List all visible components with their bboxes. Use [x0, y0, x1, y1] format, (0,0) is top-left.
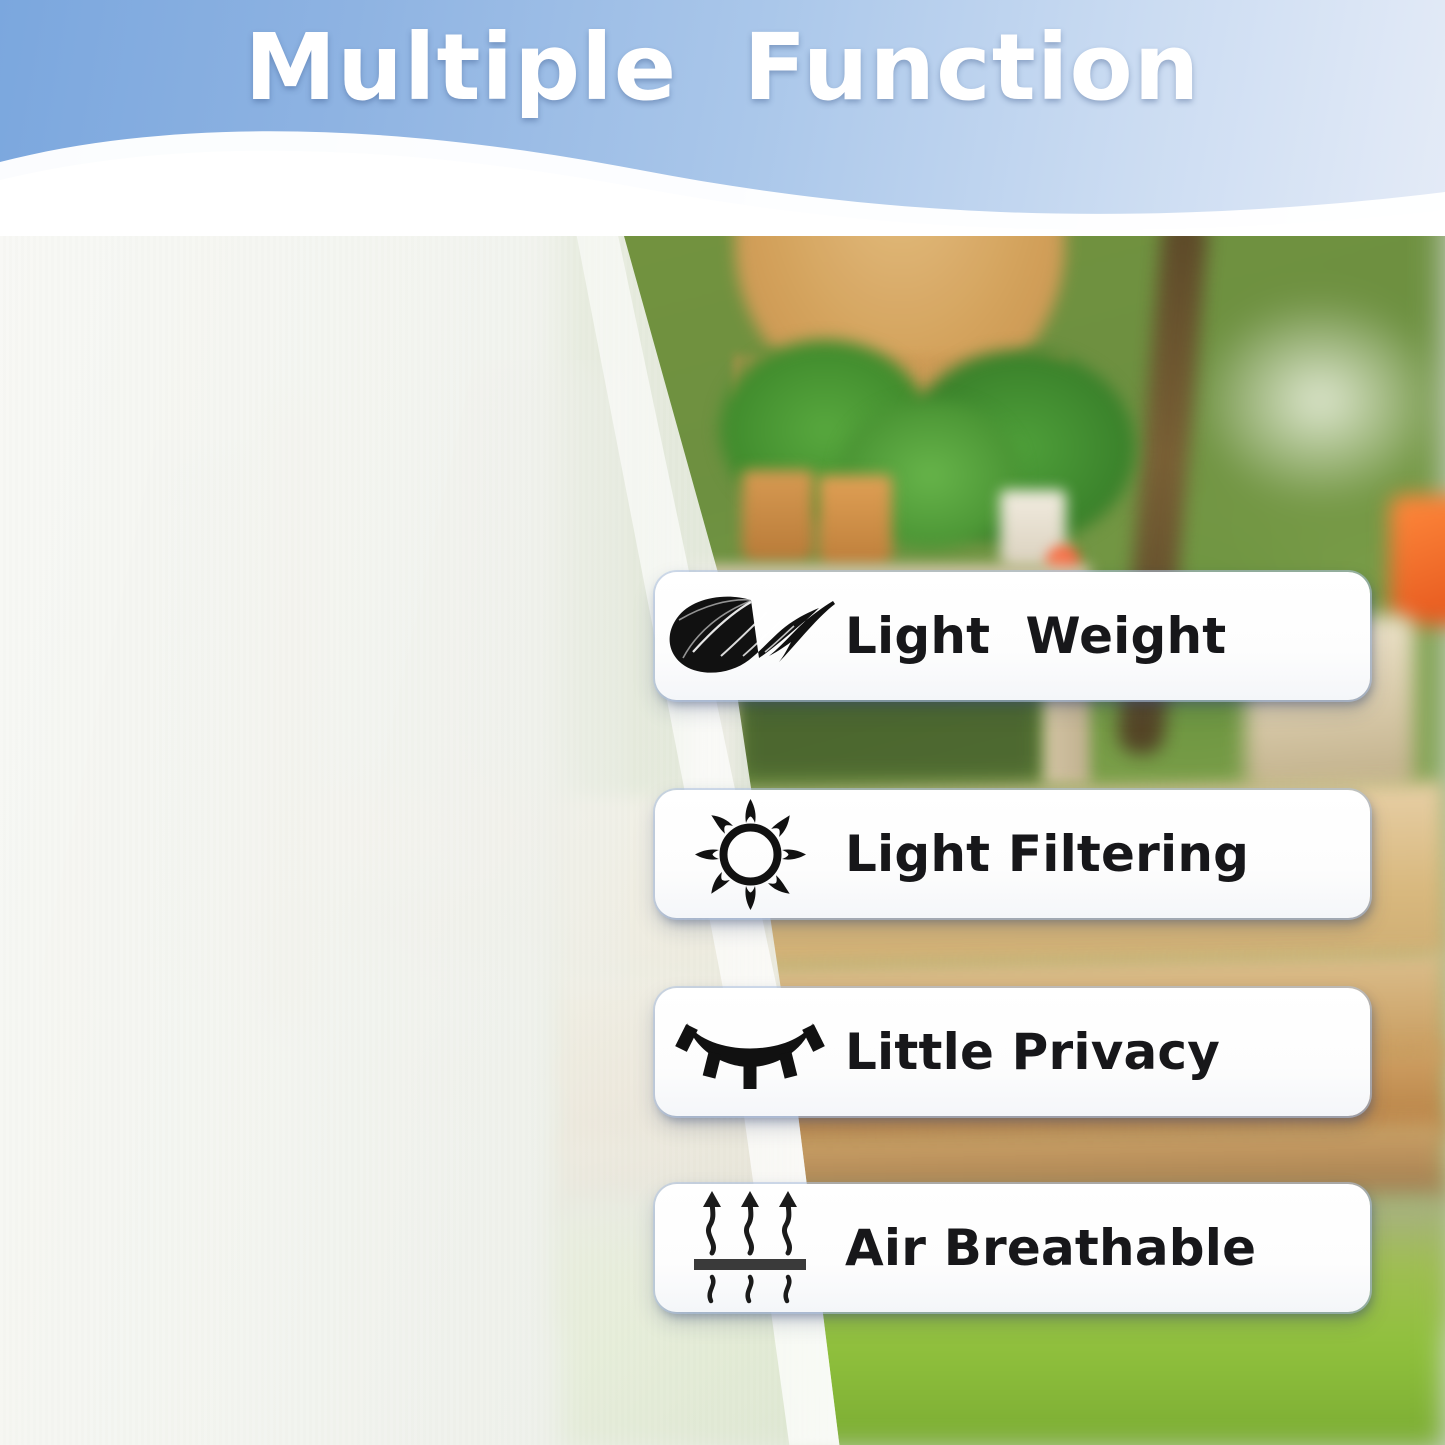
terracotta-pot-1	[742, 470, 814, 562]
sun-icon	[655, 790, 845, 918]
orange-object	[1390, 495, 1445, 625]
feature-card-light-weight[interactable]: Light Weight	[655, 572, 1370, 700]
air-breathable-icon	[655, 1184, 845, 1312]
infographic-root: Multiple Function Light Weight	[0, 0, 1445, 1445]
feature-label: Little Privacy	[845, 1027, 1220, 1077]
closed-eye-icon	[655, 988, 845, 1116]
feature-label: Light Filtering	[845, 829, 1249, 879]
feature-card-little-privacy[interactable]: Little Privacy	[655, 988, 1370, 1116]
header-wave	[0, 118, 1445, 236]
terracotta-pot-2	[818, 475, 892, 567]
feature-card-light-filtering[interactable]: Light Filtering	[655, 790, 1370, 918]
header-band: Multiple Function	[0, 0, 1445, 232]
feature-card-air-breathable[interactable]: Air Breathable	[655, 1184, 1370, 1312]
page-title: Multiple Function	[0, 14, 1445, 121]
feature-label: Air Breathable	[845, 1223, 1256, 1273]
feature-label: Light Weight	[845, 611, 1226, 661]
feather-icon	[655, 572, 845, 700]
